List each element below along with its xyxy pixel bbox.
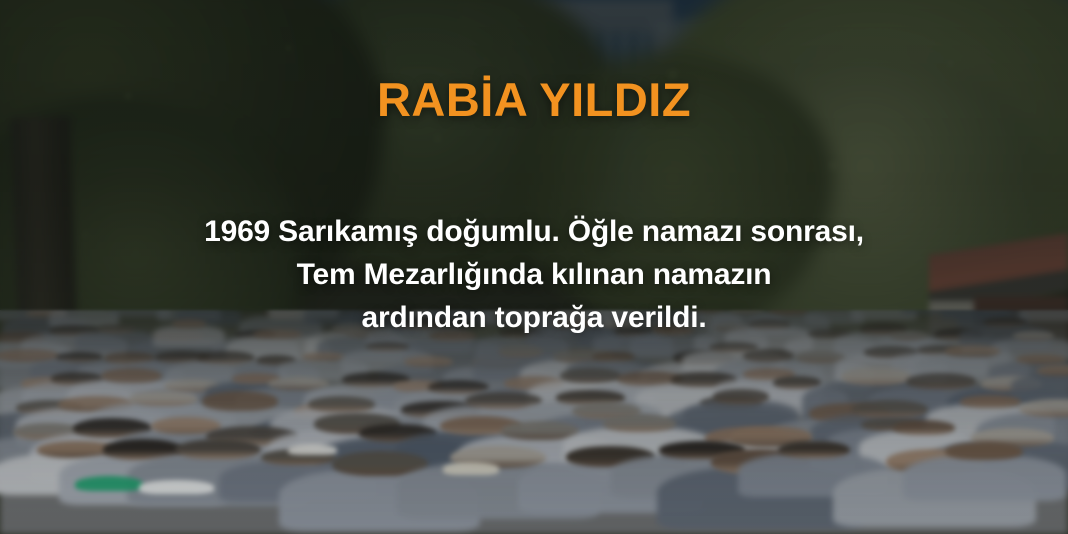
crowd-person-head bbox=[175, 439, 261, 460]
obituary-line-1: 1969 Sarıkamış doğumlu. Öğle namazı sonr… bbox=[0, 210, 1068, 253]
crowd-person-body bbox=[903, 455, 1066, 500]
crowd-person-head bbox=[56, 352, 103, 362]
crowd-person-cap bbox=[75, 476, 143, 492]
crowd-person-head bbox=[945, 345, 1000, 357]
crowd-person-body bbox=[1011, 373, 1068, 401]
crowd-person-head bbox=[778, 441, 850, 458]
crowd-person-head bbox=[498, 345, 543, 357]
crowd-region bbox=[0, 310, 1068, 534]
crowd-person-head bbox=[308, 396, 376, 412]
obituary-card: KONYA BÜYÜKŞEHİR BELEDİYESİ KONYA BÜYÜKŞ… bbox=[0, 0, 1068, 534]
crowd-person-head bbox=[945, 442, 1023, 460]
obituary-body: 1969 Sarıkamış doğumlu. Öğle namazı sonr… bbox=[0, 210, 1068, 339]
crowd-person-cap bbox=[288, 444, 337, 455]
page-title: RABİA YILDIZ bbox=[0, 75, 1068, 124]
crowd-person-head bbox=[743, 349, 795, 362]
crowd-person-head bbox=[960, 395, 1021, 408]
crowd-person-head bbox=[893, 420, 955, 435]
crowd-person-head bbox=[404, 356, 453, 367]
crowd-person-head bbox=[852, 400, 928, 418]
crowd-person-head bbox=[501, 421, 579, 440]
obituary-line-2: Tem Mezarlığında kılınan namazın bbox=[0, 253, 1068, 296]
crowd-person-head bbox=[129, 391, 198, 406]
crowd-person-cap bbox=[139, 480, 214, 494]
crowd-person-head bbox=[1016, 354, 1066, 364]
crowd-person-head bbox=[302, 352, 345, 361]
crowd-person-head bbox=[841, 367, 911, 385]
crowd-person-head bbox=[560, 368, 621, 382]
crowd-person-head bbox=[197, 351, 255, 365]
crowd-person-head bbox=[592, 352, 636, 361]
crowd-person-head bbox=[101, 368, 162, 383]
crowd-person-cap bbox=[443, 462, 499, 475]
obituary-line-3: ardından toprağa verildi. bbox=[0, 296, 1068, 339]
crowd-person-head bbox=[202, 391, 278, 411]
crowd-person-head bbox=[603, 414, 676, 432]
crowd-person-head bbox=[906, 373, 976, 389]
crowd-person-head bbox=[365, 342, 409, 352]
crowd-person-head bbox=[1019, 399, 1068, 417]
crowd-person-head bbox=[1037, 365, 1068, 376]
crowd-person-head bbox=[713, 389, 768, 403]
